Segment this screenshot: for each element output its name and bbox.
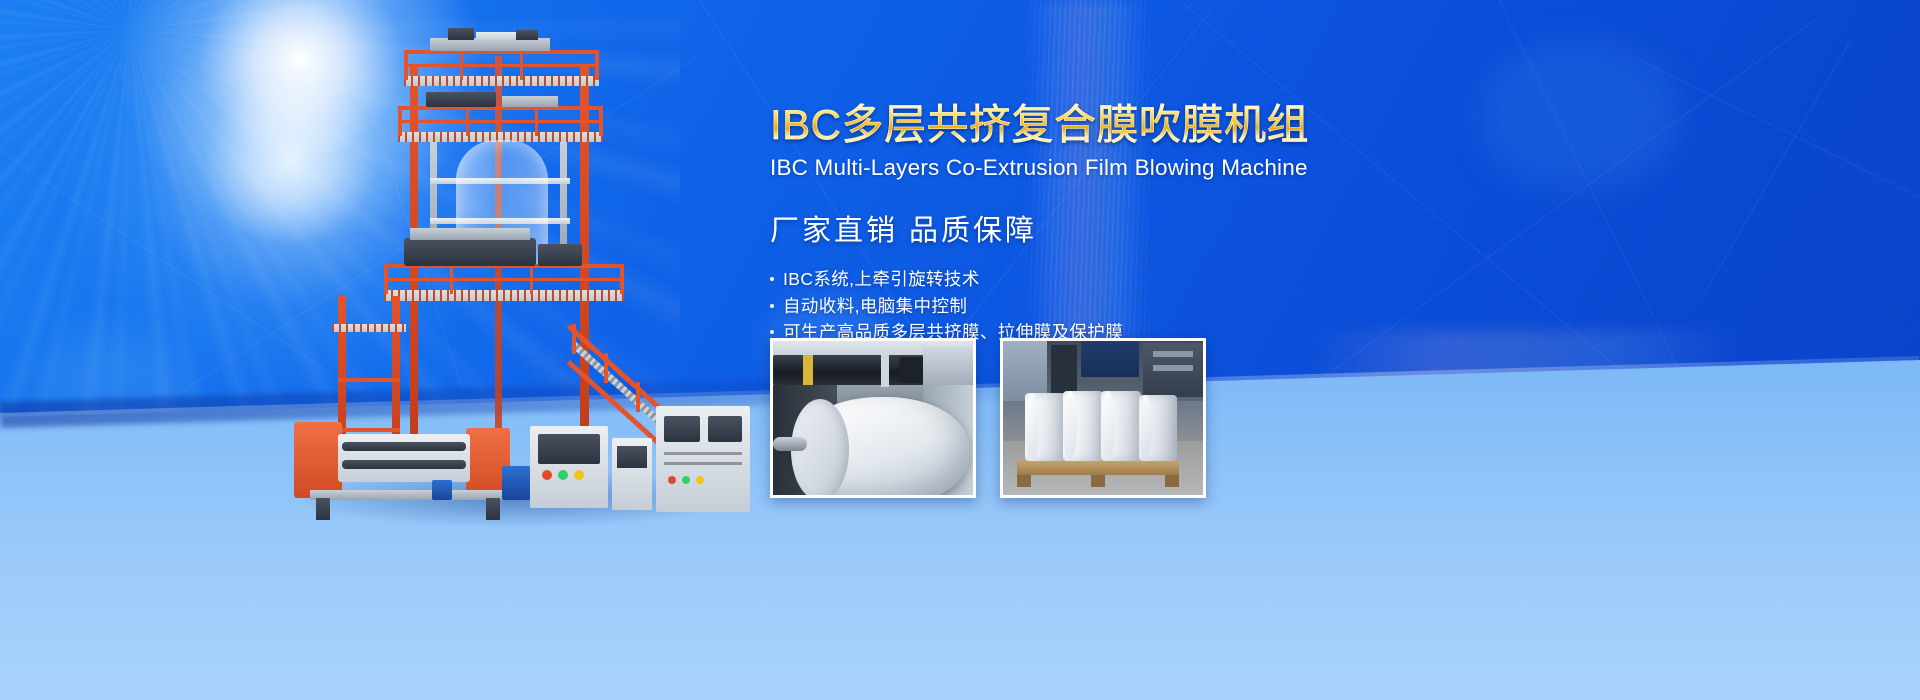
banner-subtitle: IBC Multi-Layers Co-Extrusion Film Blowi…	[770, 155, 1410, 181]
pallet	[1017, 459, 1179, 475]
bullet-dot-icon	[770, 330, 774, 334]
banner-tagline: 厂家直销 品质保障	[770, 207, 1410, 249]
film-blowing-machine-image	[280, 28, 750, 518]
product-photo-stacked-rolls[interactable]	[1000, 338, 1206, 498]
product-banner: IBC多层共挤复合膜吹膜机组 IBC Multi-Layers Co-Extru…	[0, 0, 1920, 700]
feature-text: 自动收料,电脑集中控制	[783, 293, 967, 320]
bullet-dot-icon	[770, 304, 774, 308]
list-item: 自动收料,电脑集中控制	[770, 293, 1410, 320]
feature-text: IBC系统,上牵引旋转技术	[783, 266, 980, 293]
bullet-dot-icon	[770, 277, 774, 281]
list-item: IBC系统,上牵引旋转技术	[770, 266, 1410, 293]
light-blotch-3	[1480, 40, 1680, 190]
product-photo-film-roll[interactable]	[770, 338, 976, 498]
banner-title: IBC多层共挤复合膜吹膜机组	[770, 104, 1410, 146]
banner-text-block: IBC多层共挤复合膜吹膜机组 IBC Multi-Layers Co-Extru…	[770, 104, 1410, 362]
feature-list: IBC系统,上牵引旋转技术 自动收料,电脑集中控制 可生产高品质多层共挤膜、拉伸…	[770, 266, 1410, 346]
